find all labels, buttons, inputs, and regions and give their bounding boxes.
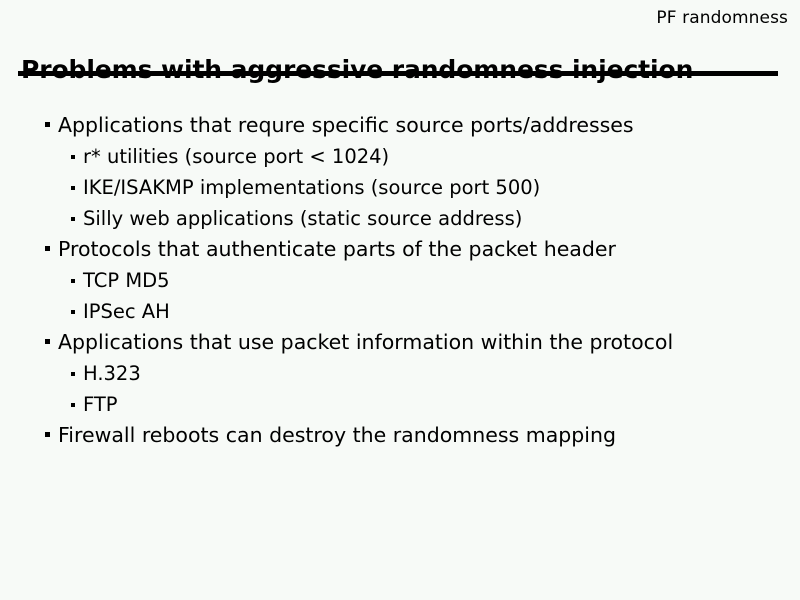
list-item: IPSec AH [0, 296, 800, 327]
list-item-label: H.323 [83, 362, 141, 385]
list-item-label: Silly web applications (static source ad… [83, 207, 522, 230]
list-item-label: Applications that use packet information… [58, 330, 673, 354]
square-bullet-icon [71, 217, 75, 221]
list-item-label: FTP [83, 393, 118, 416]
square-bullet-icon [45, 339, 50, 344]
square-bullet-icon [45, 122, 50, 127]
list-item: Applications that requre specific source… [0, 110, 800, 141]
list-item: r* utilities (source port < 1024) [0, 141, 800, 172]
square-bullet-icon [71, 372, 75, 376]
bullet-list: Applications that requre specific source… [0, 110, 800, 451]
square-bullet-icon [71, 403, 75, 407]
square-bullet-icon [45, 432, 50, 437]
list-item: H.323 [0, 358, 800, 389]
list-item-label: Protocols that authenticate parts of the… [58, 237, 616, 261]
list-item: IKE/ISAKMP implementations (source port … [0, 172, 800, 203]
list-item-label: TCP MD5 [83, 269, 170, 292]
list-item-label: IPSec AH [83, 300, 170, 323]
square-bullet-icon [45, 246, 50, 251]
list-item: Silly web applications (static source ad… [0, 203, 800, 234]
slide: PF randomness Problems with aggressive r… [0, 0, 800, 600]
list-item: FTP [0, 389, 800, 420]
square-bullet-icon [71, 155, 75, 159]
square-bullet-icon [71, 186, 75, 190]
list-item-label: Applications that requre specific source… [58, 113, 634, 137]
square-bullet-icon [71, 279, 75, 283]
list-item-label: Firewall reboots can destroy the randomn… [58, 423, 616, 447]
page-title: Problems with aggressive randomness inje… [21, 55, 693, 85]
list-item: TCP MD5 [0, 265, 800, 296]
square-bullet-icon [71, 310, 75, 314]
slide-header-label: PF randomness [656, 8, 788, 28]
list-item: Firewall reboots can destroy the randomn… [0, 420, 800, 451]
list-item: Applications that use packet information… [0, 327, 800, 358]
list-item-label: r* utilities (source port < 1024) [83, 145, 389, 168]
list-item-label: IKE/ISAKMP implementations (source port … [83, 176, 540, 199]
title-divider [18, 71, 778, 76]
list-item: Protocols that authenticate parts of the… [0, 234, 800, 265]
